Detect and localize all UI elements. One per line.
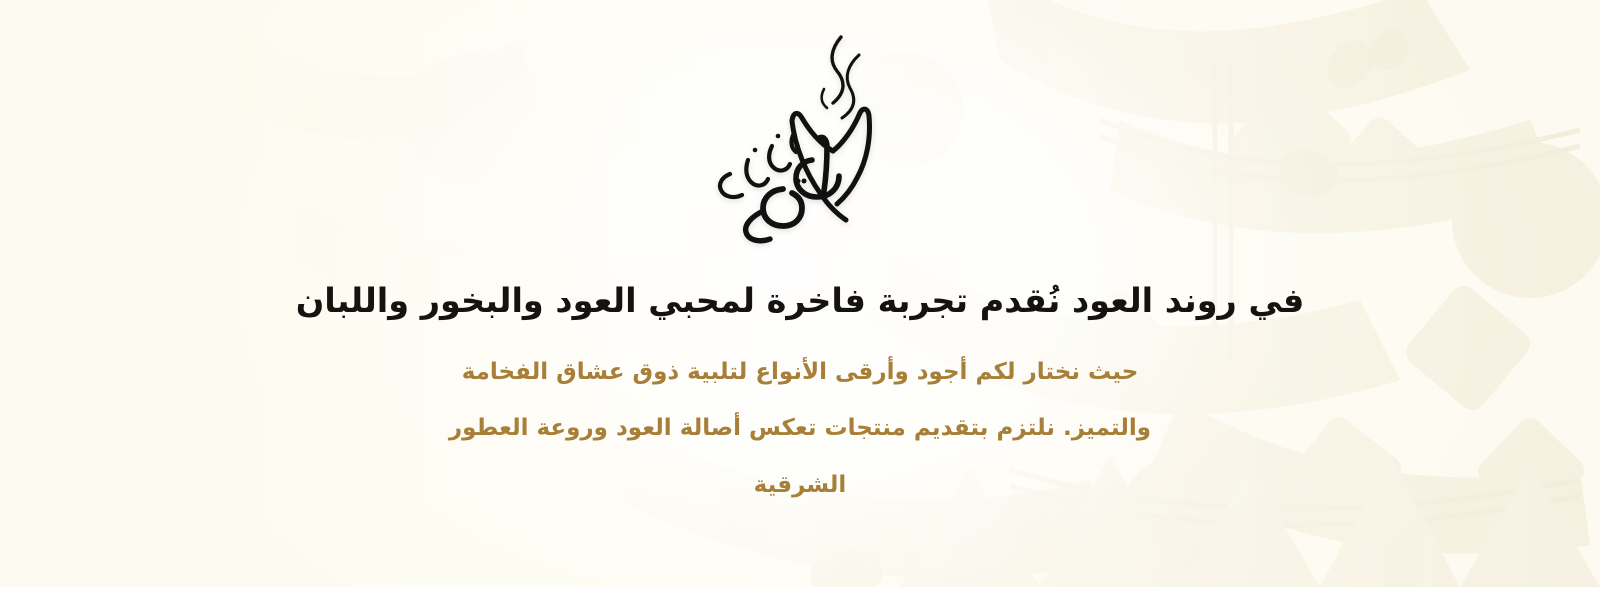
about-description-line-3: الشرقية: [385, 457, 1215, 513]
brand-logo: [695, 26, 905, 246]
about-description: حيث نختار لكم أجود وأرقى الأنواع لتلبية …: [385, 344, 1215, 513]
hero-content: في روند العود نُقدم تجربة فاخرة لمحبي ال…: [0, 0, 1600, 587]
page-bottom-strip: [0, 587, 1600, 604]
about-description-line-1: حيث نختار لكم أجود وأرقى الأنواع لتلبية …: [385, 344, 1215, 400]
about-hero-section: في روند العود نُقدم تجربة فاخرة لمحبي ال…: [0, 0, 1600, 587]
about-description-line-2: والتميز. نلتزم بتقديم منتجات تعكس أصالة …: [385, 400, 1215, 456]
page-title: في روند العود نُقدم تجربة فاخرة لمحبي ال…: [296, 280, 1305, 322]
